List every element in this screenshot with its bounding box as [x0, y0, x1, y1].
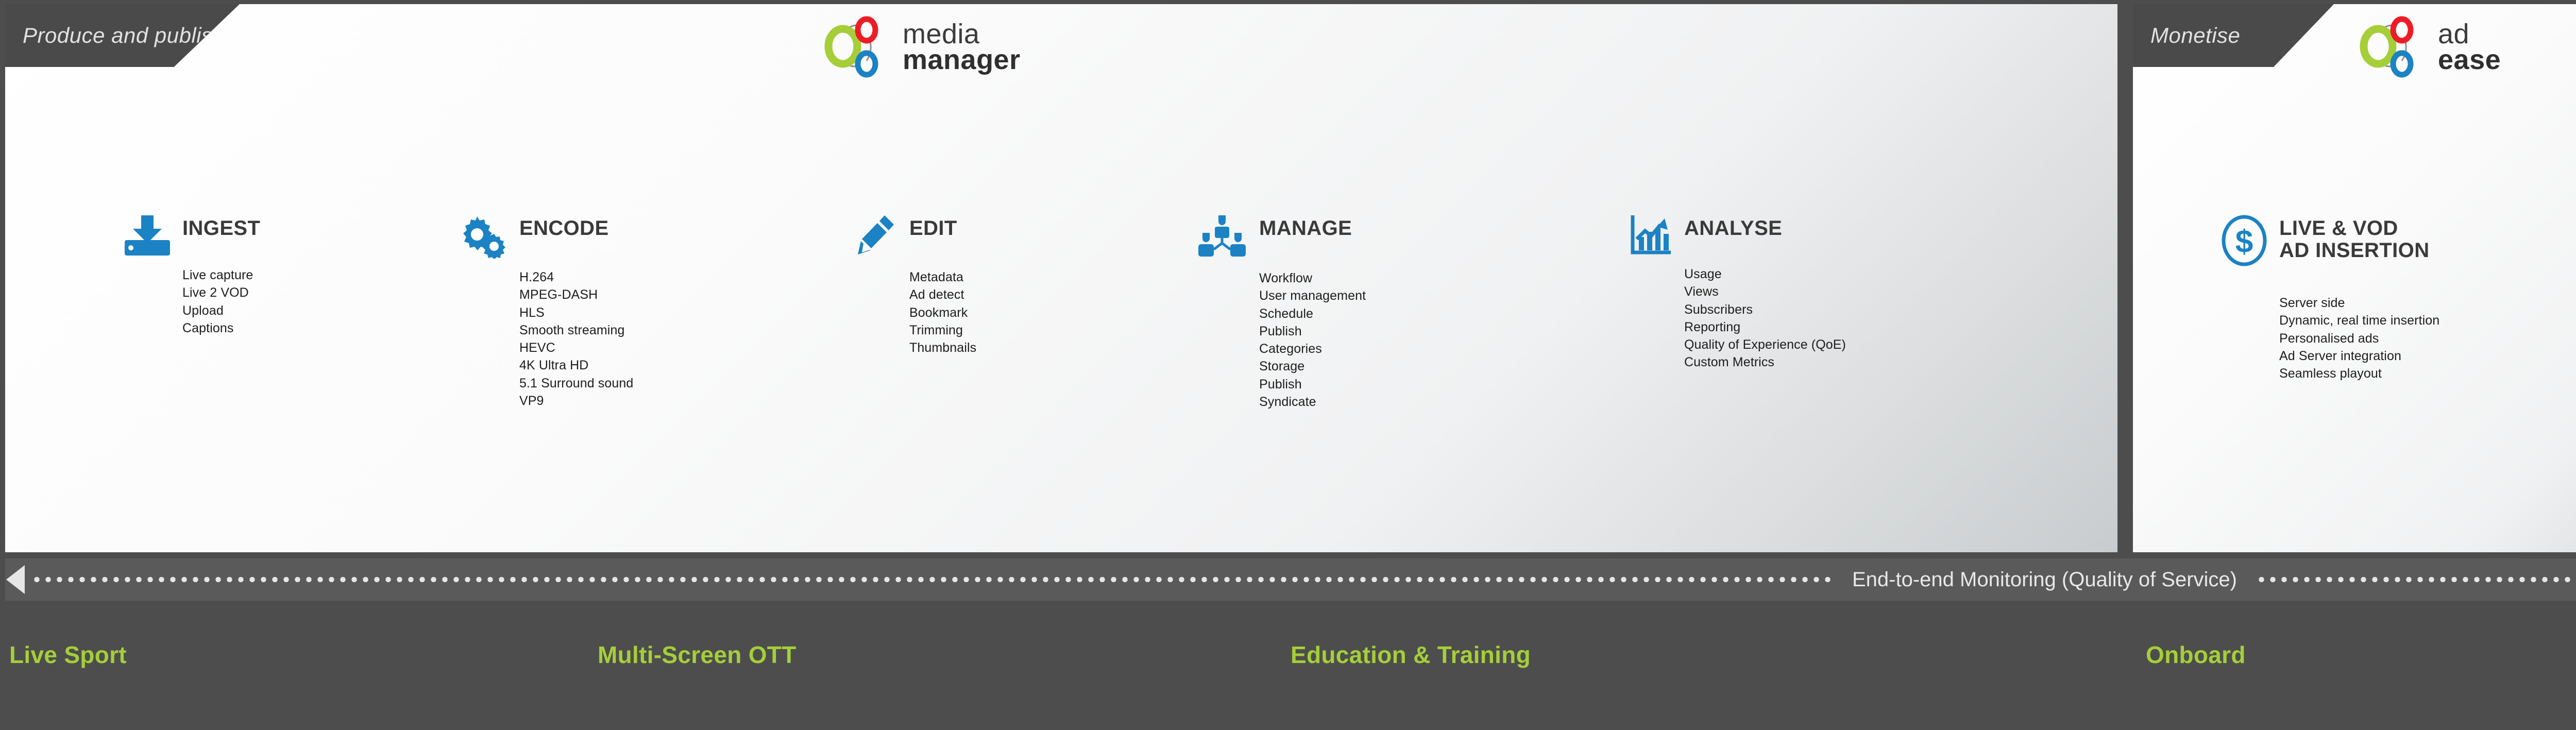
feature-title: LIVE & VOD AD INSERTION: [2279, 214, 2429, 262]
list-item: H.264: [519, 268, 633, 286]
feature-column-ad-insertion: $ LIVE & VOD AD INSERTION Server side Dy…: [2221, 214, 2439, 382]
list-item: Server side: [2279, 294, 2439, 312]
list-item: Subscribers: [1684, 301, 1846, 318]
dotted-line-right: [2253, 577, 2576, 582]
footer-segments: Live Sport Multi-Screen OTT Education & …: [0, 606, 2576, 730]
list-item: Dynamic, real time insertion: [2279, 312, 2439, 329]
list-item: Syndicate: [1259, 393, 1366, 411]
feature-list: Usage Views Subscribers Reporting Qualit…: [1684, 265, 1846, 371]
feature-list: Server side Dynamic, real time insertion…: [2279, 294, 2439, 382]
feature-title: MANAGE: [1259, 214, 1352, 240]
list-item: Personalised ads: [2279, 330, 2439, 347]
svg-text:$: $: [2235, 224, 2253, 260]
list-item: Reporting: [1684, 318, 1846, 336]
list-item: Seamless playout: [2279, 365, 2439, 382]
monitoring-bar: End-to-end Monitoring (Quality of Servic…: [5, 558, 2576, 601]
feature-list: Metadata Ad detect Bookmark Trimming Thu…: [909, 268, 976, 356]
list-item: User management: [1259, 287, 1366, 304]
brand-name-bottom: ease: [2438, 47, 2501, 73]
list-item: Schedule: [1259, 305, 1366, 322]
brand-name-bottom: manager: [903, 47, 1021, 73]
footer-label-education-training: Education & Training: [1291, 641, 1531, 669]
list-item: VP9: [519, 392, 633, 410]
list-item: Captions: [182, 319, 260, 337]
feature-title: ENCODE: [519, 214, 609, 240]
panel-monetise: Monetise ad ease: [2133, 4, 2576, 552]
feature-column-encode: ENCODE H.264 MPEG-DASH HLS Smooth stream…: [459, 214, 633, 410]
feature-list: Workflow User management Schedule Publis…: [1259, 269, 1366, 411]
feature-title: INGEST: [182, 214, 260, 240]
panel-tab-produce: Produce and publish: [5, 4, 240, 67]
bar-chart-arrow-icon: [1631, 214, 1673, 258]
dotted-line-left: [29, 577, 1836, 582]
list-item: Quality of Experience (QoE): [1684, 336, 1846, 353]
list-item: 4K Ultra HD: [519, 356, 633, 374]
infographic-root: Produce and publish media manager: [0, 0, 2576, 730]
three-ring-logo-icon: [2360, 13, 2425, 81]
list-item: Publish: [1259, 376, 1366, 393]
feature-column-ingest: INGEST Live capture Live 2 VOD Upload Ca…: [124, 214, 260, 337]
footer-label-live-sport: Live Sport: [9, 641, 127, 669]
pencil-icon: [858, 214, 898, 261]
list-item: MPEG-DASH: [519, 286, 633, 303]
list-item: Categories: [1259, 340, 1366, 358]
panel-tab-label: Monetise: [2150, 23, 2240, 48]
list-item: Bookmark: [909, 304, 976, 321]
feature-column-edit: EDIT Metadata Ad detect Bookmark Trimmin…: [858, 214, 976, 356]
list-item: Metadata: [909, 268, 976, 286]
footer-label-multi-screen-ott: Multi-Screen OTT: [598, 641, 796, 669]
brand-media-manager: media manager: [824, 13, 1021, 81]
list-item: Live capture: [182, 266, 260, 284]
brand-name-top: ad: [2438, 22, 2501, 47]
feature-list: H.264 MPEG-DASH HLS Smooth streaming HEV…: [519, 268, 633, 410]
list-item: Storage: [1259, 358, 1366, 375]
feature-column-manage: MANAGE Workflow User management Schedule…: [1196, 214, 1366, 411]
gears-icon: [459, 214, 508, 261]
monitoring-label: End-to-end Monitoring (Quality of Servic…: [1839, 568, 2250, 591]
brand-ad-ease: ad ease: [2360, 13, 2501, 81]
list-item: HLS: [519, 304, 633, 321]
feature-title: EDIT: [909, 214, 957, 240]
feature-title: ANALYSE: [1684, 214, 1782, 240]
list-item: Usage: [1684, 265, 1846, 283]
panel-produce-and-publish: Produce and publish media manager: [5, 4, 2117, 552]
list-item: Thumbnails: [909, 339, 976, 356]
footer-label-onboard: Onboard: [2146, 641, 2246, 669]
list-item: Views: [1684, 283, 1846, 300]
list-item: Custom Metrics: [1684, 353, 1846, 371]
panel-tab-label: Produce and publish: [23, 23, 225, 48]
dollar-coin-icon: $: [2221, 214, 2268, 269]
list-item: Live 2 VOD: [182, 284, 260, 301]
list-item: Trimming: [909, 321, 976, 339]
list-item: Upload: [182, 302, 260, 319]
feature-list: Live capture Live 2 VOD Upload Captions: [182, 266, 260, 337]
panel-tab-monetise: Monetise: [2133, 4, 2334, 67]
list-item: 5.1 Surround sound: [519, 375, 633, 392]
list-item: Publish: [1259, 322, 1366, 340]
org-chart-people-icon: [1196, 214, 1248, 262]
list-item: HEVC: [519, 339, 633, 356]
feature-column-analyse: ANALYSE Usage Views Subscribers Reportin…: [1631, 214, 1846, 371]
list-item: Smooth streaming: [519, 321, 633, 339]
download-to-tray-icon: [124, 214, 171, 259]
list-item: Workflow: [1259, 269, 1366, 287]
list-item: Ad Server integration: [2279, 347, 2439, 365]
arrow-left-icon: [5, 564, 26, 595]
brand-name-top: media: [903, 22, 1021, 47]
three-ring-logo-icon: [824, 13, 889, 81]
list-item: Ad detect: [909, 286, 976, 303]
